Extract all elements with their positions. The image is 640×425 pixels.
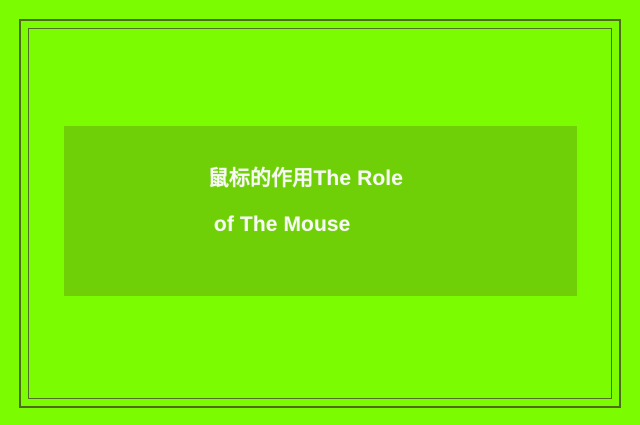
- title-panel: 鼠标的作用The Role of The Mouse: [64, 126, 577, 296]
- slide-title-line-2: of The Mouse: [208, 212, 538, 238]
- slide-canvas: 鼠标的作用The Role of The Mouse: [0, 0, 640, 425]
- slide-title-line-1: 鼠标的作用The Role: [208, 166, 538, 192]
- title-block: 鼠标的作用The Role of The Mouse: [208, 166, 538, 238]
